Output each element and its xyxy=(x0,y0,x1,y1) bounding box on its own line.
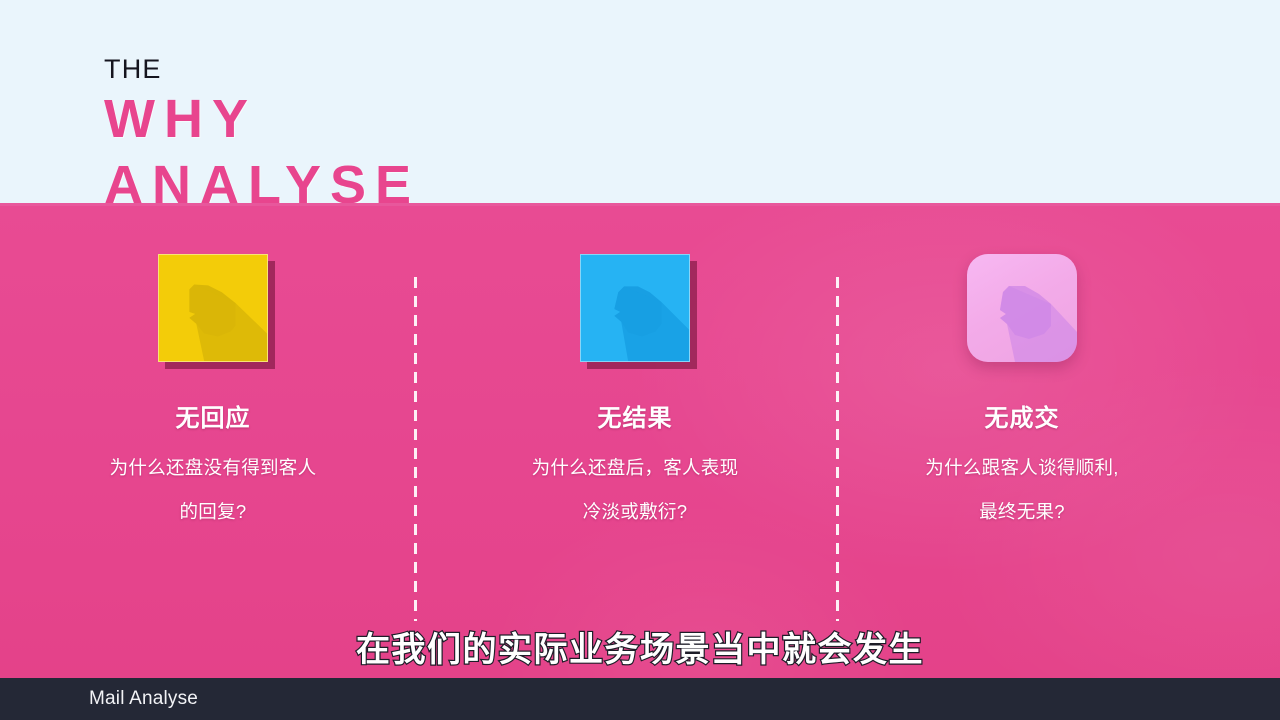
reason-column-3: 无成交 为什么跟客人谈得顺利, 最终无果? xyxy=(812,254,1232,533)
bottom-bar: Mail Analyse xyxy=(0,678,1280,720)
title-block: THE WHY ANALYSE xyxy=(104,56,420,219)
reason-title-3: 无成交 xyxy=(812,406,1232,432)
long-shadow-shape xyxy=(581,255,689,361)
icon-container-2 xyxy=(425,254,845,378)
subtitle-caption: 在我们的实际业务场景当中就会发生 xyxy=(0,622,1280,671)
reason-desc-3-line2: 最终无果? xyxy=(812,490,1232,533)
reason-desc-3: 为什么跟客人谈得顺利, 最终无果? xyxy=(812,446,1232,533)
reason-title-1: 无回应 xyxy=(3,406,423,432)
violet-rounded-icon xyxy=(967,254,1077,362)
icon-container-1 xyxy=(3,254,423,378)
reason-desc-2-line2: 冷淡或敷衍? xyxy=(425,490,845,533)
reason-desc-1-line1: 为什么还盘没有得到客人 xyxy=(3,446,423,489)
reason-desc-1: 为什么还盘没有得到客人 的回复? xyxy=(3,446,423,533)
reason-column-2: 无结果 为什么还盘后，客人表现 冷淡或敷衍? xyxy=(425,254,845,533)
blue-square-icon xyxy=(580,254,690,362)
reason-title-2: 无结果 xyxy=(425,406,845,432)
reason-column-1: 无回应 为什么还盘没有得到客人 的回复? xyxy=(3,254,423,533)
page-title-line1: WHY xyxy=(104,87,420,153)
reason-desc-2-line1: 为什么还盘后，客人表现 xyxy=(425,446,845,489)
yellow-square-icon xyxy=(158,254,268,362)
long-shadow-shape xyxy=(967,254,1077,362)
header-section: THE WHY ANALYSE xyxy=(0,0,1280,205)
long-shadow-shape xyxy=(159,255,267,361)
reason-desc-2: 为什么还盘后，客人表现 冷淡或敷衍? xyxy=(425,446,845,533)
bottom-bar-label: Mail Analyse xyxy=(89,688,198,710)
slide-root: THE WHY ANALYSE 无回应 为什么还盘没有得到客人 的回复? xyxy=(0,0,1280,720)
reason-desc-3-line1: 为什么跟客人谈得顺利, xyxy=(812,446,1232,489)
eyebrow-text: THE xyxy=(104,56,420,83)
reason-desc-1-line2: 的回复? xyxy=(3,490,423,533)
icon-container-3 xyxy=(812,254,1232,378)
